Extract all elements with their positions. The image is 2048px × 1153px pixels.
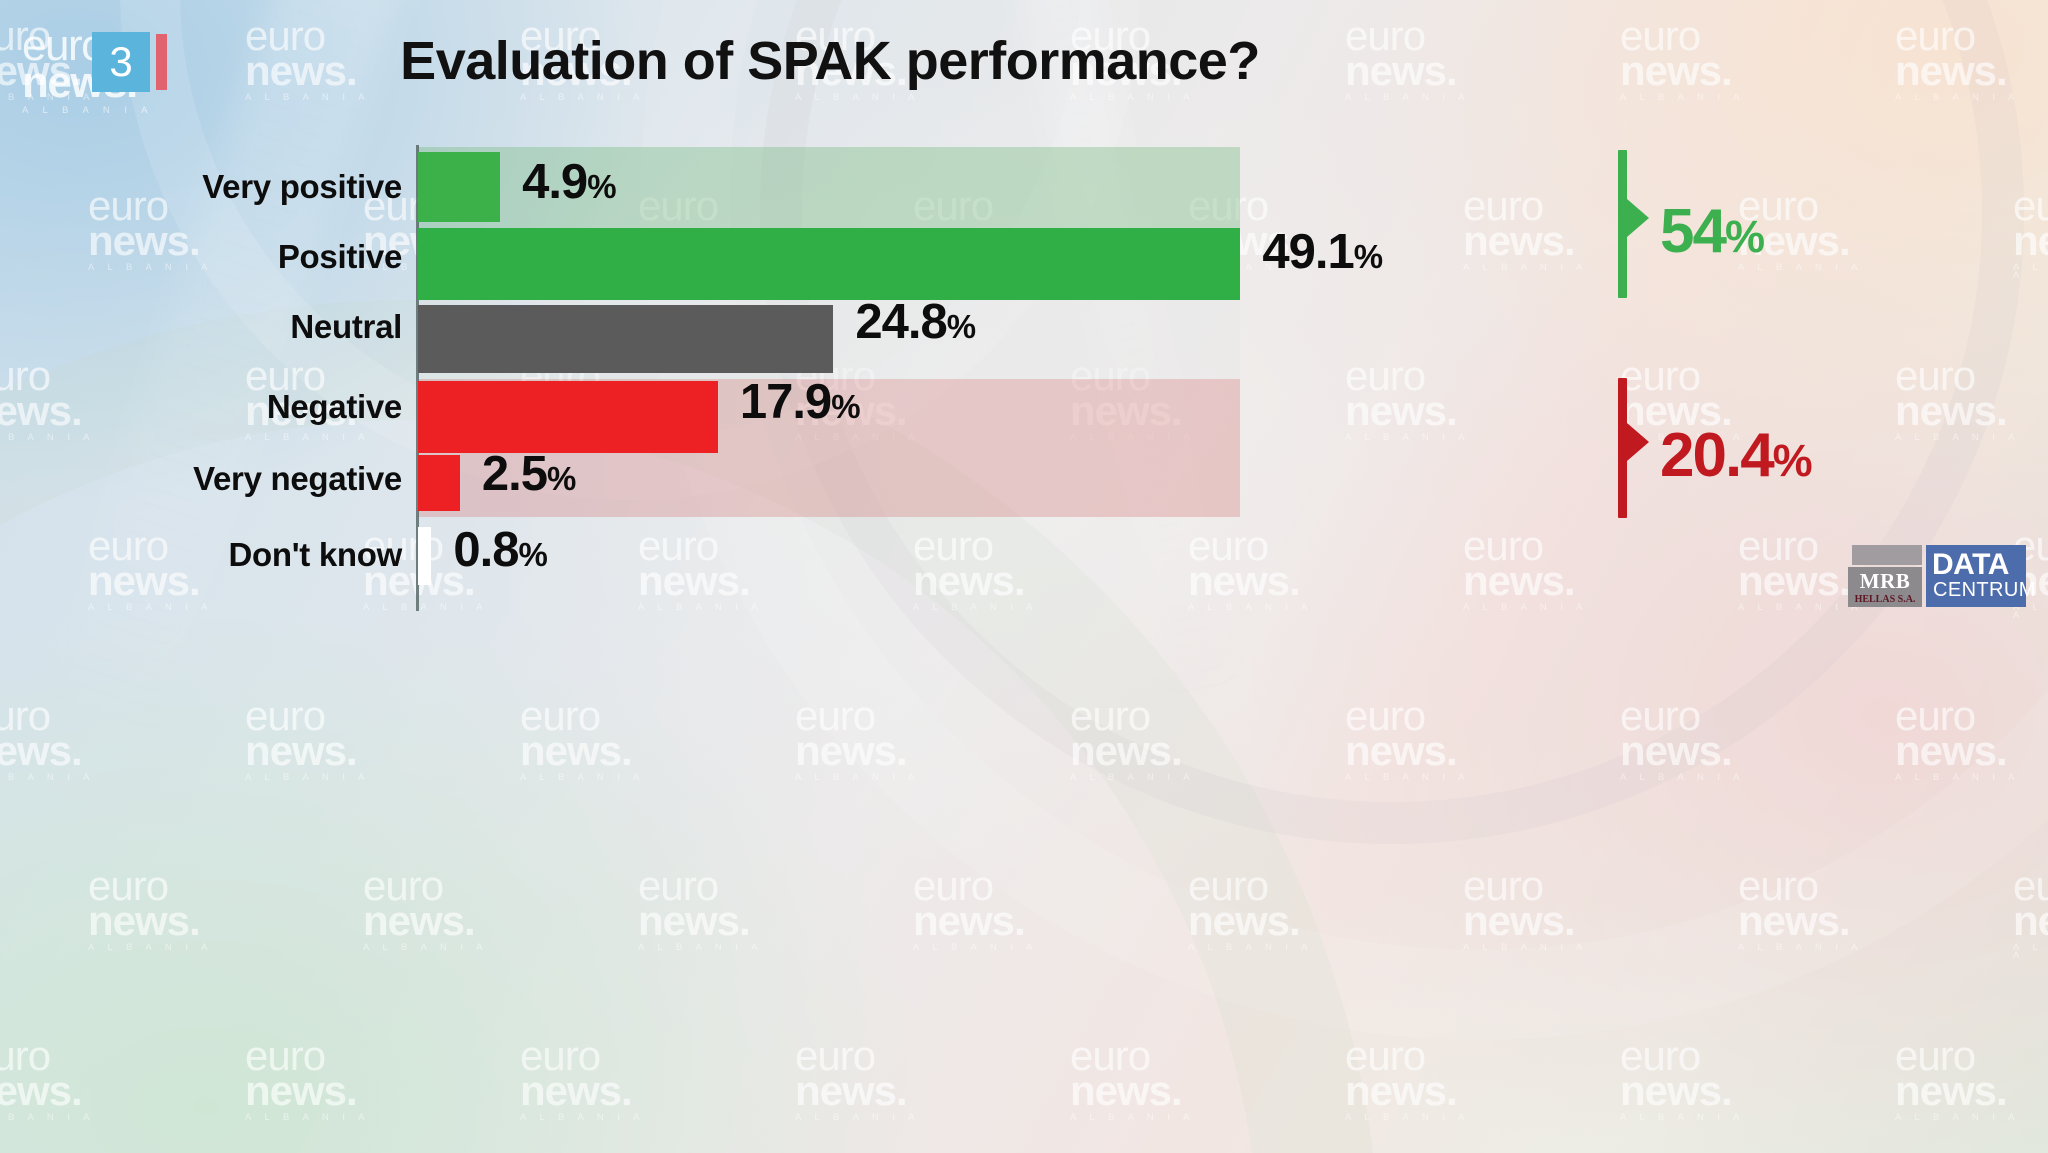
summary-value: 54% [1660,196,1763,267]
bar-label-neutral: Neutral [40,308,402,346]
percent-sign: % [947,308,975,345]
data-centrum-subtitle: CENTRUM [1933,580,2036,600]
data-centrum-logo: DATA CENTRUM [1926,545,2026,607]
bar-label-very-positive: Very positive [40,168,402,206]
bar-value-number: 17.9 [740,375,831,429]
bar-value-very-positive: 4.9% [522,154,615,210]
bar-value-don-t-know: 0.8% [453,522,546,578]
percent-sign: % [831,388,859,425]
mrb-logo-text: MRB [1848,567,1922,595]
bar-value-number: 49.1 [1262,225,1353,279]
bar-value-very-negative: 2.5% [482,446,575,502]
percent-sign: % [587,168,615,205]
bar-positive [418,228,1240,300]
bar-value-negative: 17.9% [740,374,860,430]
broadcast-graphic: euronews.A L B A N I Aeuronews.A L B A N… [0,0,2048,1153]
summary-value: 20.4% [1660,420,1811,491]
bar-negative [418,381,718,453]
summary-bracket-rule [1618,150,1627,298]
bar-value-positive: 49.1% [1262,224,1382,280]
data-centrum-title: DATA [1932,550,2009,580]
bar-value-number: 0.8 [453,523,518,577]
mrb-logo-subtitle: HELLAS S.A. [1848,594,1922,605]
mrb-logo-bar [1852,545,1922,565]
bar-very-positive [418,152,500,222]
mrb-hellas-logo: MRB HELLAS S.A. [1848,545,1922,607]
bar-label-positive: Positive [40,238,402,276]
partner-logos: MRB HELLAS S.A. DATA CENTRUM [1848,545,2028,607]
bar-chart: Very positive4.9%Positive49.1%Neutral24.… [0,0,2048,1153]
percent-sign: % [519,536,547,573]
summary-number: 54 [1660,197,1725,266]
summary-percent-sign: % [1773,435,1811,486]
bar-value-number: 4.9 [522,155,587,209]
percent-sign: % [547,460,575,497]
percent-sign: % [1354,238,1382,275]
summary-bracket-rule [1618,378,1627,518]
summary-pointer-icon [1627,199,1649,237]
bar-don-t-know [418,527,431,585]
bar-label-don-t-know: Don't know [40,536,402,574]
bar-value-number: 2.5 [482,447,547,501]
bar-very-negative [418,455,460,511]
summary-number: 20.4 [1660,421,1773,490]
summary-pointer-icon [1627,423,1649,461]
bar-label-very-negative: Very negative [40,460,402,498]
bar-value-neutral: 24.8% [855,294,975,350]
bar-value-number: 24.8 [855,295,946,349]
bar-label-negative: Negative [40,388,402,426]
bar-neutral [418,305,833,373]
summary-percent-sign: % [1725,211,1763,262]
